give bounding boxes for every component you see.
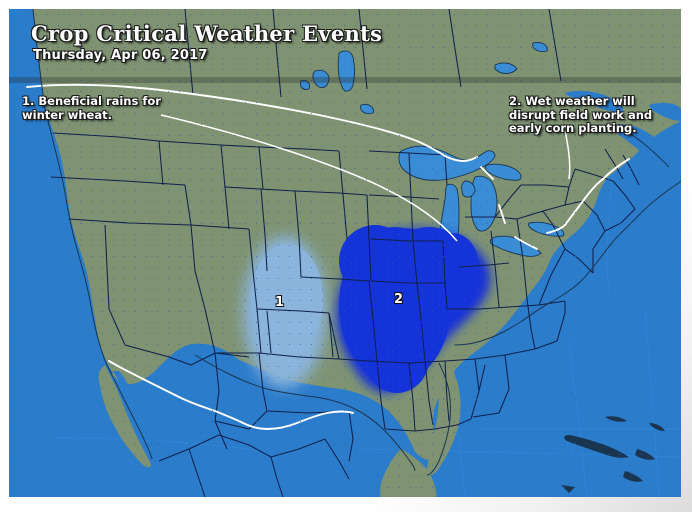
- image-frame: Crop Critical Weather Events Thursday, A…: [0, 0, 692, 512]
- map-graphic: [9, 9, 681, 497]
- weather-map[interactable]: Crop Critical Weather Events Thursday, A…: [9, 9, 681, 497]
